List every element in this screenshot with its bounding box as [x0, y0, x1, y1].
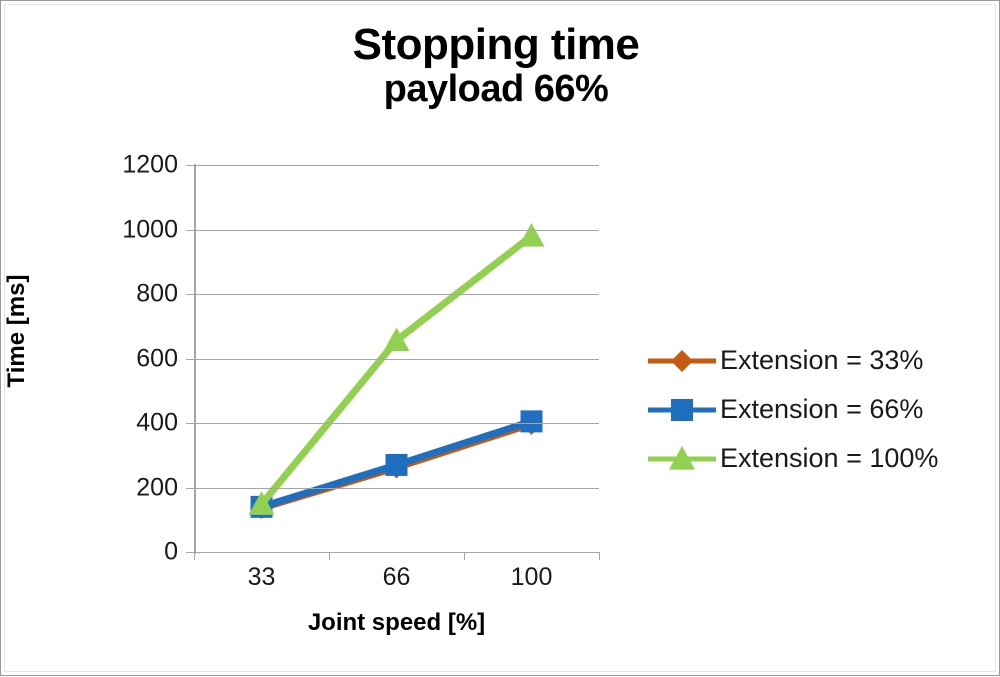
x-axis-tick [329, 552, 330, 560]
y-axis-tick [186, 552, 194, 553]
gridline [194, 423, 599, 424]
y-axis-tick [186, 359, 194, 360]
y-axis-tick-label: 400 [88, 409, 178, 438]
x-axis-title: Joint speed [%] [194, 609, 599, 637]
y-axis-tick-label: 1200 [88, 151, 178, 180]
gridline [194, 230, 599, 231]
y-axis-tick [186, 294, 194, 295]
x-axis-tick-label: 100 [472, 563, 592, 592]
x-axis-tick [599, 552, 600, 560]
gridline [194, 294, 599, 295]
x-axis-tick-label: 33 [202, 563, 322, 592]
legend-item[interactable]: Extension = 66% [646, 385, 986, 434]
y-axis-tick-label: 0 [88, 538, 178, 567]
x-axis-tick [464, 552, 465, 560]
x-axis-tick-labels: 3366100 [194, 563, 599, 603]
legend-marker-square-icon [646, 397, 718, 423]
legend-item[interactable]: Extension = 100% [646, 434, 986, 483]
y-axis-tick [186, 165, 194, 166]
legend-label: Extension = 100% [720, 443, 938, 474]
data-point-marker [671, 399, 693, 421]
gridline [194, 359, 599, 360]
y-axis-tick [186, 423, 194, 424]
gridline [194, 488, 599, 489]
y-axis-tick [186, 488, 194, 489]
data-point-marker [519, 223, 545, 247]
x-axis-tick-label: 66 [337, 563, 457, 592]
y-axis-tick-label: 200 [88, 473, 178, 502]
legend-label: Extension = 33% [720, 345, 923, 376]
legend-marker-diamond-icon [646, 348, 718, 374]
legend: Extension = 33%Extension = 66%Extension … [646, 336, 986, 483]
plot-area [194, 165, 599, 552]
y-axis-title: Time [ms] [3, 261, 31, 401]
legend-label: Extension = 66% [720, 394, 923, 425]
y-axis-tick [186, 230, 194, 231]
x-axis-tick [194, 552, 195, 560]
y-axis-tick-label: 1000 [88, 215, 178, 244]
data-point-marker [671, 350, 693, 372]
y-axis-tick-label: 800 [88, 280, 178, 309]
x-axis-tick-marks [194, 552, 599, 562]
y-axis-tick-labels: 020040060080010001200 [86, 1, 178, 677]
legend-marker-triangle-icon [646, 446, 718, 472]
data-point-marker [386, 454, 408, 476]
gridline [194, 165, 599, 166]
chart-frame: Stopping time payload 66% Time [ms] 0200… [0, 0, 1000, 676]
legend-item[interactable]: Extension = 33% [646, 336, 986, 385]
data-point-marker [521, 410, 543, 432]
y-axis-tick-label: 600 [88, 344, 178, 373]
